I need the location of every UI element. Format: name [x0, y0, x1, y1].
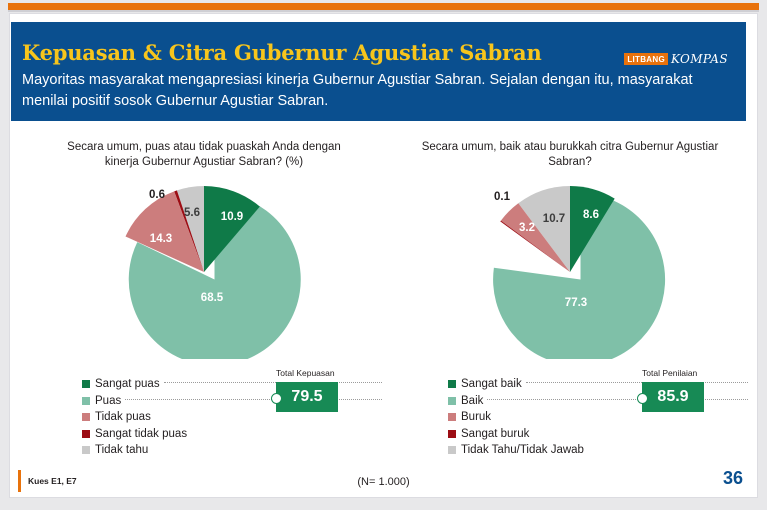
chart-panel-kepuasan: Secara umum, puas atau tidak puaskah And…	[24, 140, 384, 460]
legend-label-sangat-baik: Sangat baik	[461, 378, 522, 390]
pie-chart-citra: 8.6 77.3 3.2 0.1 10.7	[470, 184, 670, 359]
litbang-badge: LITBANG	[624, 53, 668, 65]
pie-label-baik: 77.3	[565, 297, 587, 309]
total-caption-kepuasan: Total Kepuasan	[262, 368, 372, 379]
legend-label-tidak-tahu-jawab: Tidak Tahu/Tidak Jawab	[461, 444, 584, 456]
pie-label-tidak-tahu: 5.6	[184, 207, 200, 219]
pie-label-tidak-tahu-jawab: 10.7	[543, 213, 565, 225]
pie-label-sangat-tidak-puas: 0.6	[149, 189, 165, 201]
legend-swatch-puas	[82, 397, 90, 405]
legend-item[interactable]: Sangat tidak puas	[82, 426, 384, 443]
slide-page: LITBANG KOMPAS Kepuasan & Citra Gubernur…	[0, 0, 767, 510]
legend-item[interactable]: Sangat buruk	[448, 426, 750, 443]
page-title: Kepuasan & Citra Gubernur Agustiar Sabra…	[22, 40, 542, 65]
page-subtitle: Mayoritas masyarakat mengapresiasi kiner…	[22, 70, 722, 111]
pie-label-sangat-baik: 8.6	[583, 209, 599, 221]
legend-label-buruk: Buruk	[461, 411, 491, 423]
legend-label-sangat-puas: Sangat puas	[95, 378, 160, 390]
pie-label-puas: 68.5	[201, 292, 224, 304]
legend-label-baik: Baik	[461, 395, 483, 407]
pie-chart-kepuasan: 10.9 68.5 14.3 0.6 5.6	[104, 184, 304, 359]
chart-title-citra: Secara umum, baik atau burukkah citra Gu…	[390, 140, 750, 170]
legend-swatch-tidak-tahu-jawab	[448, 446, 456, 454]
chart-title-kepuasan: Secara umum, puas atau tidak puaskah And…	[24, 140, 384, 170]
pie-slices-kepuasan	[126, 186, 301, 359]
pie-label-tidak-puas: 14.3	[150, 233, 172, 245]
total-callout-citra: Total Penilaian 85.9	[628, 368, 738, 412]
pie-wrap-kepuasan: 10.9 68.5 14.3 0.6 5.6	[24, 184, 384, 359]
legend-label-tidak-tahu: Tidak tahu	[95, 444, 148, 456]
pie-slices-citra	[493, 186, 665, 359]
legend-swatch-sangat-tidak-puas	[82, 430, 90, 438]
page-number: 36	[723, 468, 743, 489]
total-box-kepuasan: 79.5	[276, 382, 338, 412]
top-rule-shadow	[8, 10, 759, 12]
legend-swatch-baik	[448, 397, 456, 405]
legend-label-puas: Puas	[95, 395, 121, 407]
legend-swatch-sangat-puas	[82, 380, 90, 388]
total-connector-dot	[637, 393, 648, 404]
legend-swatch-sangat-buruk	[448, 430, 456, 438]
pie-label-sangat-puas: 10.9	[221, 211, 243, 223]
litbang-kompas-logo: LITBANG KOMPAS	[624, 52, 728, 66]
legend-swatch-tidak-tahu	[82, 446, 90, 454]
kompas-wordmark: KOMPAS	[671, 52, 728, 66]
total-value-kepuasan: 79.5	[291, 388, 322, 406]
legend-swatch-sangat-baik	[448, 380, 456, 388]
legend-swatch-tidak-puas	[82, 413, 90, 421]
legend-swatch-buruk	[448, 413, 456, 421]
total-callout-kepuasan: Total Kepuasan 79.5	[262, 368, 372, 412]
legend-label-sangat-tidak-puas: Sangat tidak puas	[95, 428, 187, 440]
legend-label-sangat-buruk: Sangat buruk	[461, 428, 529, 440]
chart-panel-citra: Secara umum, baik atau burukkah citra Gu…	[390, 140, 750, 460]
total-value-citra: 85.9	[657, 388, 688, 406]
legend-item[interactable]: Tidak Tahu/Tidak Jawab	[448, 442, 750, 459]
pie-wrap-citra: 8.6 77.3 3.2 0.1 10.7	[390, 184, 750, 359]
pie-label-buruk: 3.2	[519, 222, 535, 234]
top-orange-rule	[8, 3, 759, 10]
total-box-citra: 85.9	[642, 382, 704, 412]
pie-label-sangat-buruk: 0.1	[494, 191, 511, 203]
legend-label-tidak-puas: Tidak puas	[95, 411, 151, 423]
footer-sample-size: (N= 1.000)	[0, 476, 767, 488]
total-caption-citra: Total Penilaian	[628, 368, 738, 379]
total-connector-dot	[271, 393, 282, 404]
legend-item[interactable]: Tidak tahu	[82, 442, 384, 459]
